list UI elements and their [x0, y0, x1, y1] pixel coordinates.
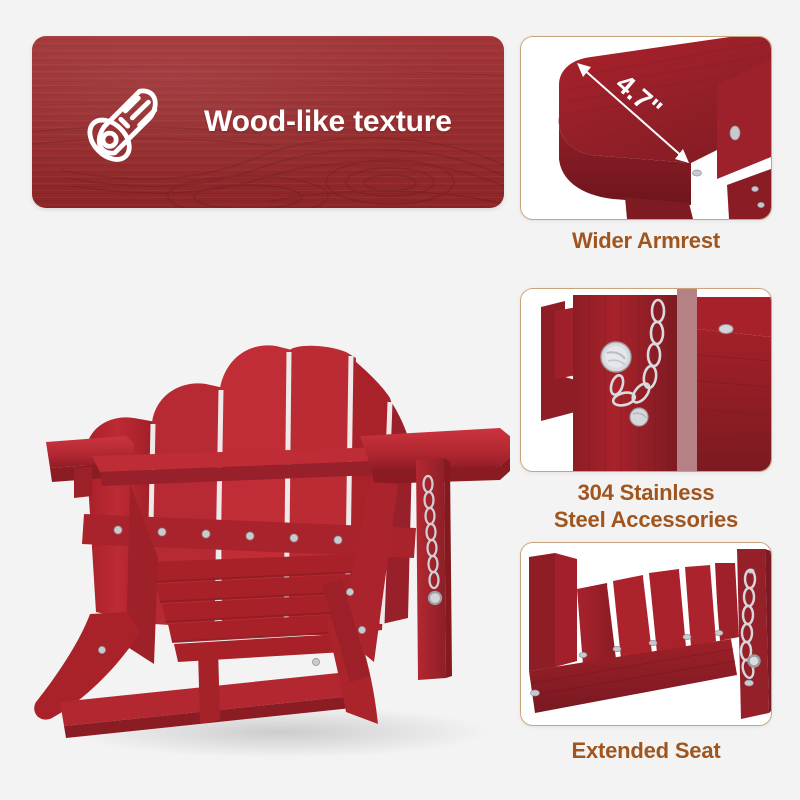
caption-wider-armrest: Wider Armrest — [510, 228, 782, 255]
bolt-head-large — [601, 342, 631, 372]
armrest-closeup-image: 4.7" — [521, 37, 771, 219]
bolt-head-right — [719, 325, 733, 334]
caption-stainless-accessories: 304 Stainless Steel Accessories — [510, 480, 782, 534]
feature-panel-stainless-accessories — [520, 288, 772, 472]
caption-extended-seat: Extended Seat — [510, 738, 782, 765]
main-product-image — [30, 232, 510, 772]
feature-panel-extended-seat — [520, 542, 772, 726]
extended-seat-closeup-image — [521, 543, 771, 725]
stainless-closeup-image — [521, 289, 771, 471]
log-icon — [84, 76, 176, 168]
feature-panel-wider-armrest: 4.7" — [520, 36, 772, 220]
chair-right-front-leg — [416, 458, 452, 680]
bolt-head-small — [630, 408, 648, 426]
banner-title: Wood-like texture — [204, 105, 452, 139]
adirondack-chair-illustration — [30, 232, 510, 772]
seat-slats — [150, 554, 360, 662]
wood-texture-banner: Wood-like texture — [32, 36, 504, 208]
